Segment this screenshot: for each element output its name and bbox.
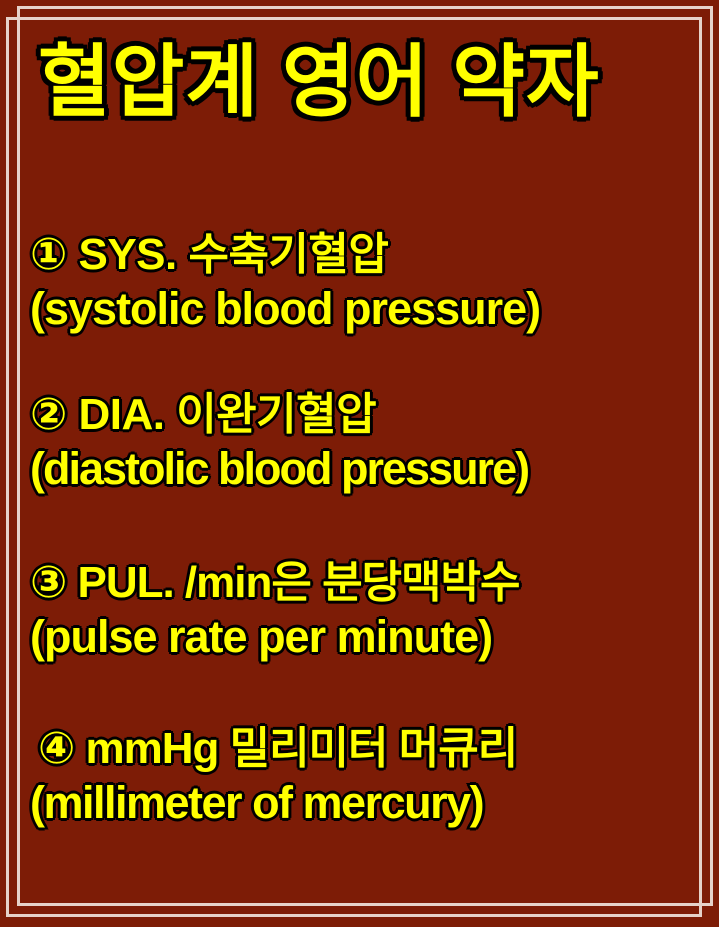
- glossary-entry-pul: ③ PUL. /min은 분당맥박수 (pulse rate per minut…: [30, 556, 710, 664]
- entry-korean-label: ① SYS. 수축기혈압: [30, 228, 710, 282]
- entry-korean-label: ③ PUL. /min은 분당맥박수: [30, 556, 710, 610]
- entry-english-label: (millimeter of mercury): [30, 776, 710, 830]
- entry-english-label: (diastolic blood pressure): [30, 442, 710, 496]
- glossary-entry-mmhg: ④ mmHg 밀리미터 머큐리 (millimeter of mercury): [30, 722, 710, 830]
- entry-english-label: (systolic blood pressure): [30, 282, 710, 336]
- glossary-entry-dia: ② DIA. 이완기혈압 (diastolic blood pressure): [30, 388, 710, 496]
- entry-korean-label: ② DIA. 이완기혈압: [30, 388, 710, 442]
- entry-korean-label: ④ mmHg 밀리미터 머큐리: [30, 722, 710, 776]
- glossary-entry-sys: ① SYS. 수축기혈압 (systolic blood pressure): [30, 228, 710, 336]
- entry-english-label: (pulse rate per minute): [30, 610, 710, 664]
- slide-content: 혈압계 영어 약자 ① SYS. 수축기혈압 (systolic blood p…: [0, 0, 719, 927]
- slide-canvas: 혈압계 영어 약자 ① SYS. 수축기혈압 (systolic blood p…: [0, 0, 719, 927]
- page-title: 혈압계 영어 약자: [38, 42, 600, 121]
